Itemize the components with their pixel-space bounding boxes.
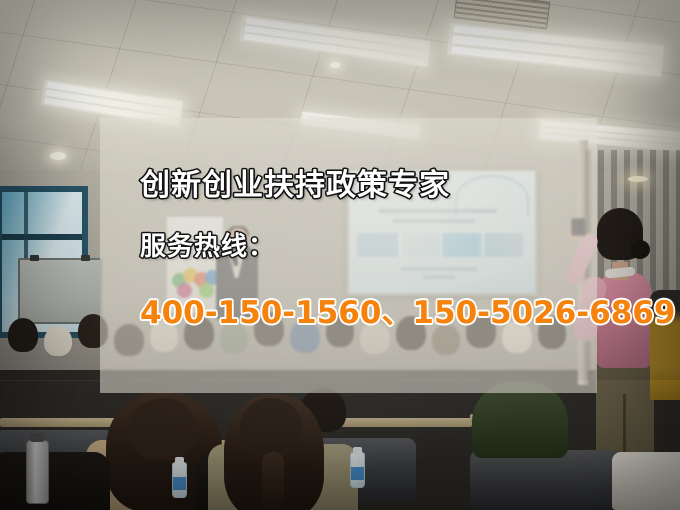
foreground-attendee-coat xyxy=(0,452,110,510)
overlay-title: 创新创业扶持政策专家 xyxy=(140,160,597,204)
whiteboard-clip xyxy=(30,255,39,261)
ceiling-downlight xyxy=(330,62,340,68)
foreground-attendee-head xyxy=(240,398,302,456)
water-bottle xyxy=(172,462,187,498)
ceiling-downlight xyxy=(50,152,66,160)
desk xyxy=(0,418,120,427)
ceiling-downlight xyxy=(628,176,648,182)
thermos xyxy=(26,440,49,504)
foreground-attendee-head xyxy=(130,398,196,460)
chair xyxy=(470,450,620,510)
ponytail xyxy=(262,452,284,510)
overlay-phone-numbers: 400-150-1560、150-5026-6869 xyxy=(140,287,597,332)
promo-text-overlay: 创新创业扶持政策专家 服务热线： 400-150-1560、150-5026-6… xyxy=(100,118,597,393)
whiteboard-clip xyxy=(81,255,90,261)
audience-member-green-jacket xyxy=(472,382,568,458)
water-bottle xyxy=(350,452,365,488)
overlay-hotline-label: 服务热线： xyxy=(140,226,597,263)
screenshot-root: 创新创业扶持政策专家 服务热线： 400-150-1560、150-5026-6… xyxy=(0,0,680,510)
chair xyxy=(612,452,680,510)
window-mullion xyxy=(2,234,82,240)
standing-attendee-hair-bun xyxy=(630,240,650,259)
